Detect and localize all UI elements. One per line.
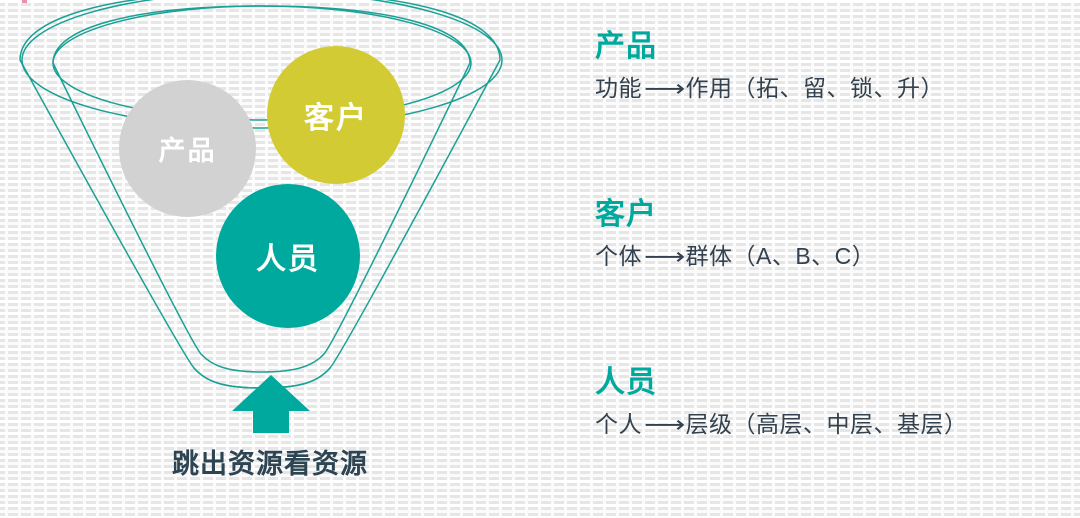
right-arrow-icon: ⟶: [644, 411, 686, 439]
points-column: 产品 功能 ⟶ 作用（拓、留、锁、升） 客户 个体 ⟶ 群体（A、B、C） 人员…: [595, 0, 1080, 518]
point-to-product: 作用（拓、留、锁、升）: [685, 75, 944, 103]
bubble-customer[interactable]: 客户: [267, 46, 405, 184]
point-from-product: 功能: [595, 75, 642, 103]
funnel-caption: 跳出资源看资源: [0, 442, 540, 481]
bubble-staff[interactable]: 人员: [216, 184, 360, 328]
point-heading-product: 产品: [595, 30, 1080, 65]
point-block-customer: 客户 个体 ⟶ 群体（A、B、C）: [595, 198, 1080, 270]
point-from-customer: 个体: [595, 243, 642, 271]
point-to-customer: 群体（A、B、C）: [685, 243, 875, 271]
point-heading-customer: 客户: [595, 198, 1080, 233]
right-arrow-icon: ⟶: [644, 75, 686, 103]
point-body-staff: 个人 ⟶ 层级（高层、中层、基层）: [595, 411, 1080, 439]
right-arrow-icon: ⟶: [644, 243, 686, 271]
bubble-product-label: 产品: [159, 129, 217, 168]
funnel-outer-rim: [22, 0, 502, 128]
bubble-product[interactable]: 产品: [119, 80, 256, 217]
slide-canvas: 产品 客户 人员 跳出资源看资源 产品 功能 ⟶ 作用（拓、留、锁、升） 客户 …: [0, 0, 1080, 518]
point-heading-staff: 人员: [595, 366, 1080, 401]
point-to-staff: 层级（高层、中层、基层）: [685, 411, 967, 439]
point-block-product: 产品 功能 ⟶ 作用（拓、留、锁、升）: [595, 30, 1080, 102]
bubble-staff-label: 人员: [256, 234, 320, 278]
bubble-customer-label: 客户: [304, 93, 368, 137]
point-body-customer: 个体 ⟶ 群体（A、B、C）: [595, 243, 1080, 271]
point-body-product: 功能 ⟶ 作用（拓、留、锁、升）: [595, 75, 1080, 103]
funnel-diagram: 产品 客户 人员 跳出资源看资源: [0, 0, 540, 518]
funnel-inner-rim: [53, 6, 471, 120]
up-arrow-icon: [232, 375, 310, 433]
point-from-staff: 个人: [595, 411, 642, 439]
point-block-staff: 人员 个人 ⟶ 层级（高层、中层、基层）: [595, 366, 1080, 438]
